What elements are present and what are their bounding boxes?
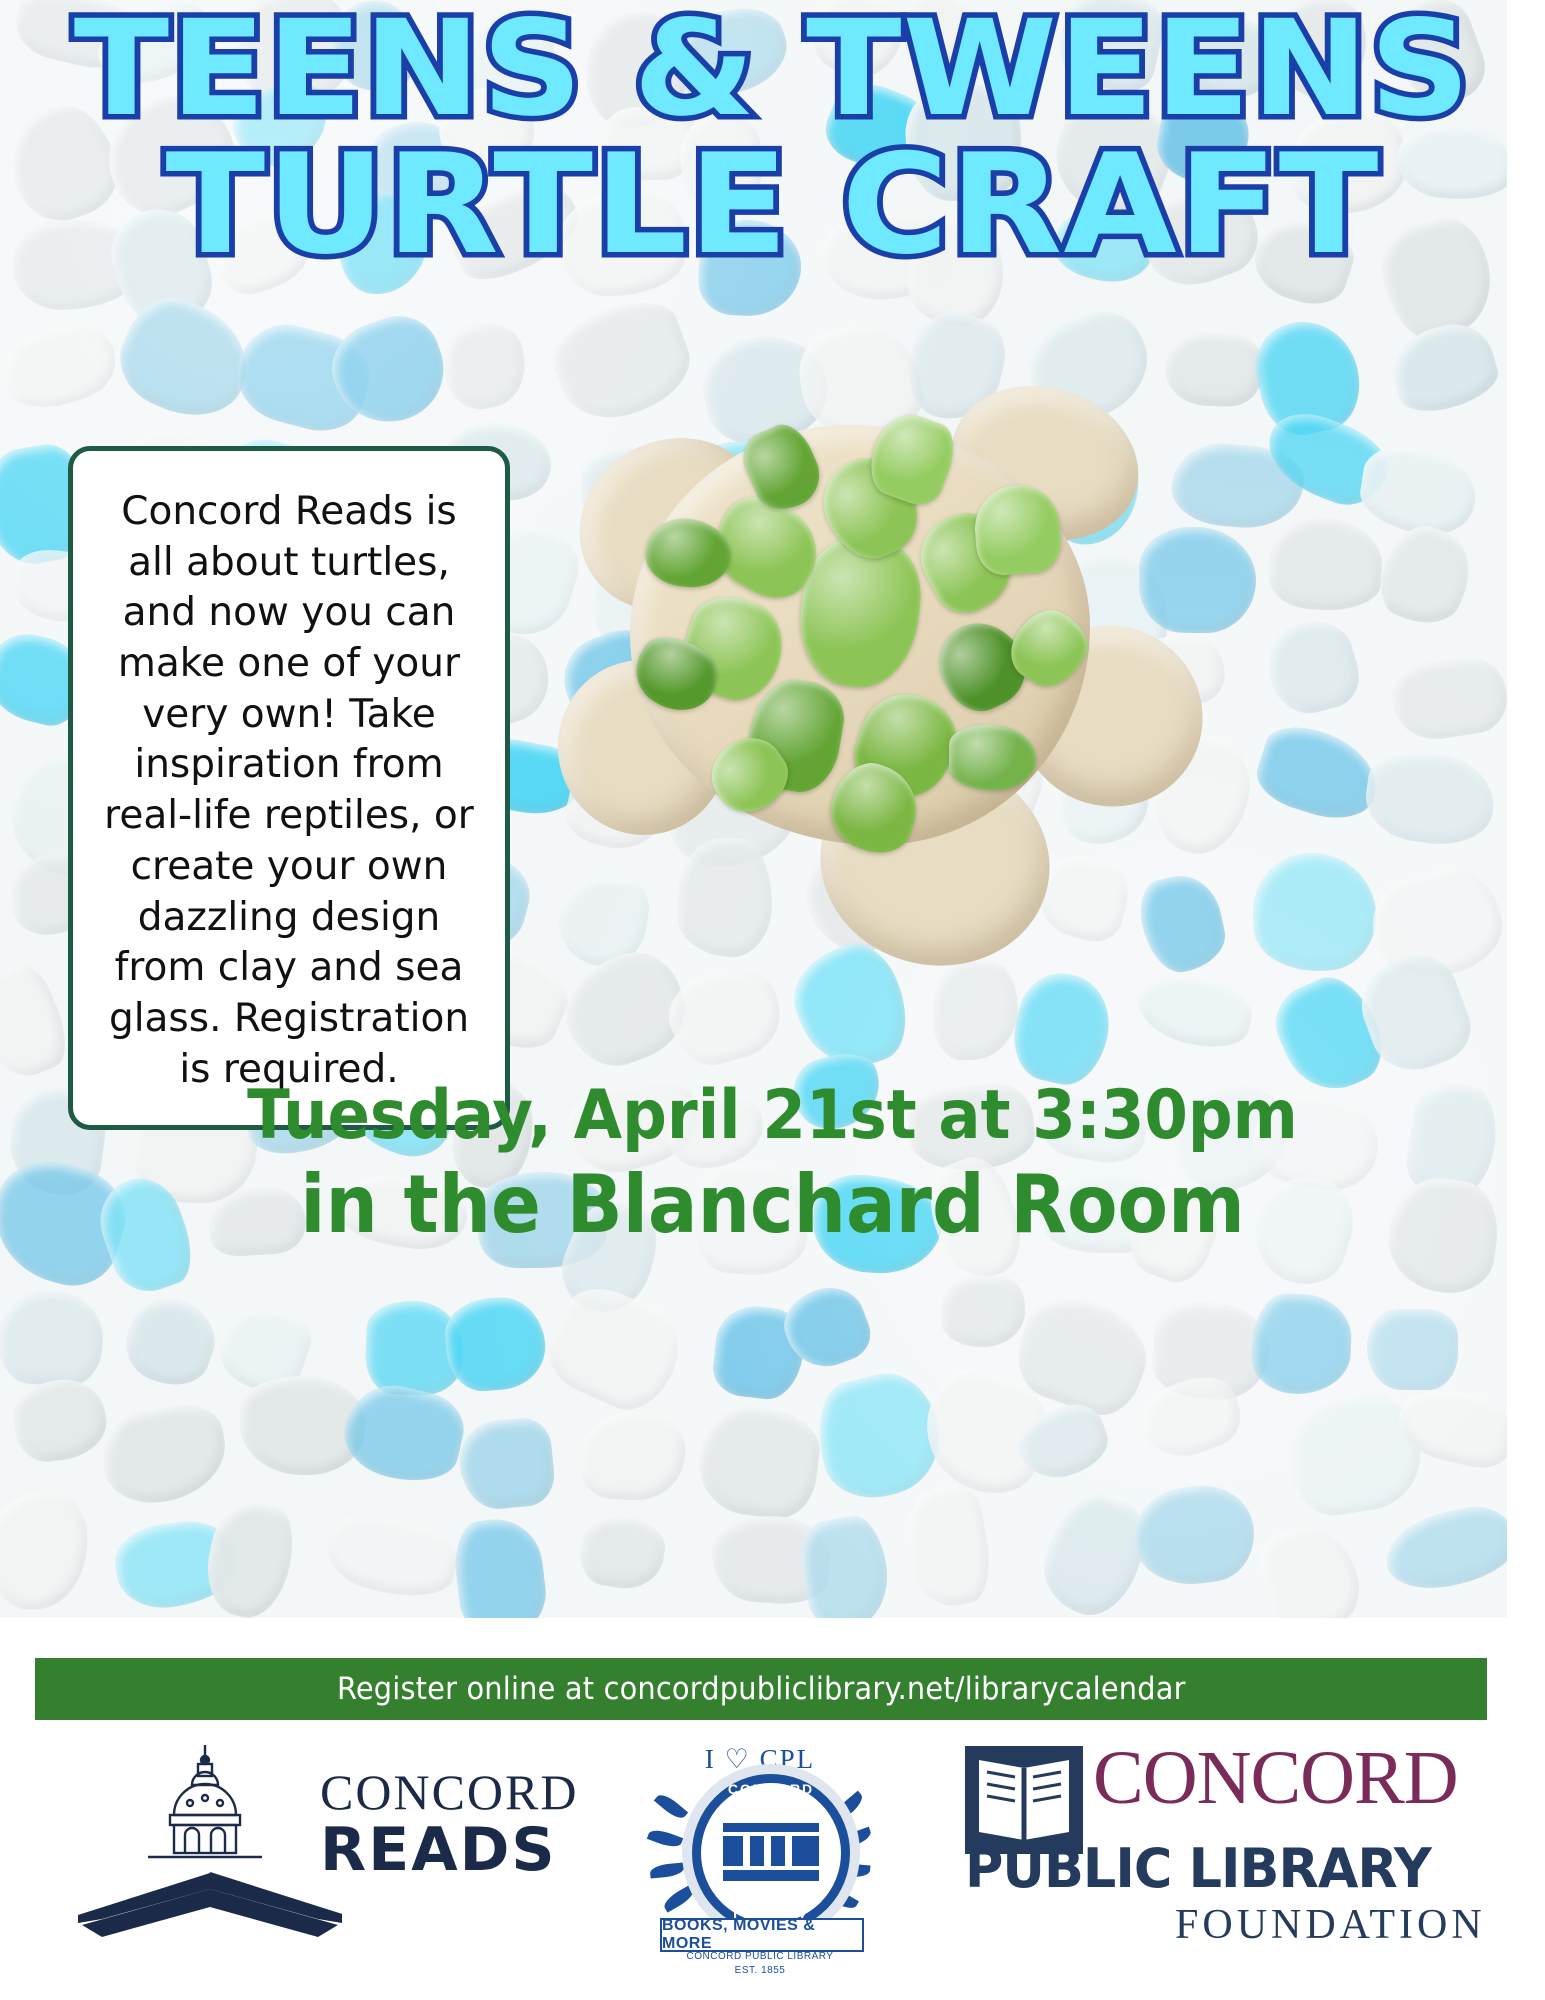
seaglass-pebble (456, 1416, 557, 1513)
laurel-leaf-icon (649, 1863, 684, 1879)
sea-glass-turtle-artwork (520, 330, 1200, 1030)
seaglass-pebble (197, 1495, 302, 1618)
register-bar[interactable]: Register online at concordpubliclibrary.… (35, 1658, 1487, 1720)
seaglass-pebble (1250, 1292, 1352, 1396)
event-details: Tuesday, April 21st at 3:30pm in the Bla… (0, 1078, 1545, 1250)
cpl-subtitle-line2: EST. 1855 (640, 1964, 880, 1978)
seaglass-pebble (336, 1376, 470, 1490)
event-date-time: Tuesday, April 21st at 3:30pm (62, 1078, 1483, 1154)
concord-reads-logo: CONCORD READS (40, 1745, 510, 1965)
seaglass-pebble (940, 1275, 1025, 1348)
seaglass-pebble (579, 1409, 686, 1502)
logo-strip: CONCORD READS I ♡ CPL CONCORD PUBLIC LIB… (0, 1740, 1545, 1990)
seaglass-pebble (0, 1488, 91, 1611)
seaglass-pebble (0, 312, 125, 419)
foundation-word-foundation: FOUNDATION (1175, 1904, 1486, 1946)
seaglass-pebble (1378, 1499, 1507, 1599)
seaglass-pebble (318, 1505, 463, 1607)
seaglass-pebble (537, 1275, 693, 1422)
open-book-icon (70, 1863, 350, 1943)
seaglass-pebble (1266, 514, 1385, 613)
poster-headline: TEENS & TWEENS TURTLE CRAFT (0, 0, 1545, 271)
cpl-established-text: CONCORD PUBLIC LIBRARY EST. 1855 (640, 1950, 880, 1977)
cpl-round-seal: CONCORD PUBLIC LIBRARY (692, 1774, 850, 1932)
seaglass-pebble (694, 1401, 824, 1522)
seaglass-pebble (1249, 717, 1388, 830)
laurel-leaf-icon (661, 1884, 697, 1912)
concord-reads-word-top: CONCORD (320, 1767, 535, 1817)
seaglass-pebble (442, 1295, 548, 1395)
foundation-word-public-library: PUBLIC LIBRARY (965, 1842, 1469, 1896)
seaglass-pebble (897, 1482, 995, 1611)
headline-line-1: TEENS & TWEENS (0, 6, 1545, 133)
seaglass-pebble (795, 1512, 895, 1618)
seaglass-pebble (1388, 651, 1507, 745)
turtle-shell-sea-glass (949, 725, 1036, 790)
foundation-word-concord: CONCORD (1093, 1740, 1458, 1816)
concord-reads-wordmark: CONCORD READS (320, 1767, 535, 1882)
seaglass-pebble (1259, 613, 1366, 722)
concord-reads-word-bottom: READS (320, 1819, 535, 1882)
cpl-ring-top-text: CONCORD PUBLIC (701, 1781, 841, 1813)
seaglass-pebble (438, 318, 533, 415)
seaglass-pebble (0, 956, 78, 1088)
seaglass-pebble (450, 1514, 551, 1618)
description-text: Concord Reads is all about turtles, and … (99, 487, 479, 1095)
register-bar-text: Register online at concordpubliclibrary.… (337, 1671, 1186, 1707)
seaglass-pebble (116, 1287, 226, 1396)
seaglass-pebble (1360, 744, 1499, 852)
cpl-subtitle-line1: CONCORD PUBLIC LIBRARY (640, 1950, 880, 1964)
seaglass-pebble (1251, 851, 1378, 973)
cpl-banner-text: BOOKS, MOVIES & MORE (662, 1917, 862, 1953)
laurel-leaf-icon (647, 1827, 683, 1851)
headline-line-2: TURTLE CRAFT (0, 139, 1545, 271)
seaglass-pebble (96, 1399, 233, 1510)
description-card: Concord Reads is all about turtles, and … (68, 446, 510, 1130)
seaglass-pebble (576, 1511, 669, 1594)
seaglass-pebble (1384, 314, 1504, 420)
cpl-seal-logo: I ♡ CPL CONCORD PUBLIC LIBRARY BOOKS, MO… (640, 1740, 880, 1990)
seaglass-pebble (0, 1287, 105, 1388)
cpl-i-love-cpl-text: I ♡ CPL (640, 1744, 880, 1775)
cpl-foundation-logo: CONCORD PUBLIC LIBRARY FOUNDATION (965, 1746, 1485, 1966)
seaglass-pebble (1369, 516, 1482, 635)
library-building-icon (723, 1823, 819, 1881)
seaglass-pebble (1251, 1514, 1370, 1618)
seaglass-pebble (1127, 1479, 1260, 1591)
event-location: in the Blanchard Room (62, 1160, 1483, 1250)
statehouse-dome-icon (130, 1745, 280, 1875)
cpl-banner: BOOKS, MOVIES & MORE (660, 1918, 864, 1952)
seaglass-pebble (9, 1375, 110, 1466)
laurel-leaf-icon (654, 1791, 688, 1823)
seaglass-pebble (1366, 1308, 1458, 1390)
